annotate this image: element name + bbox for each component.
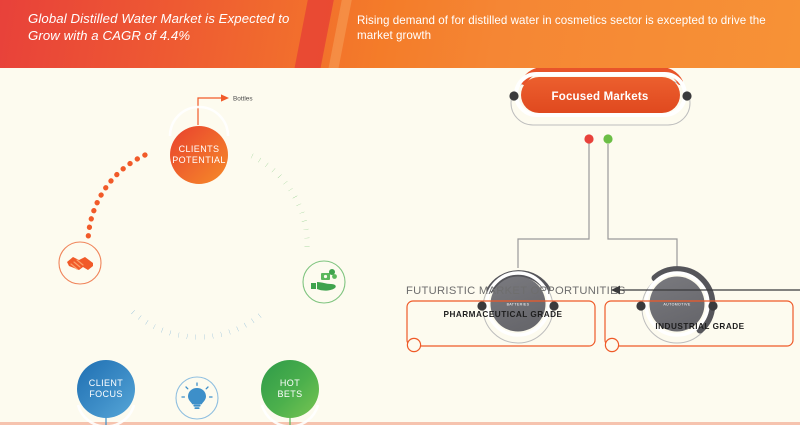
page-title: Global Distilled Water Market is Expecte… [28, 10, 298, 44]
connector-dot-green [603, 134, 612, 143]
handshake-icon [67, 257, 93, 270]
connector-dot-red [584, 134, 593, 143]
connector-arc-orange [88, 155, 145, 243]
focused-markets-title: Focused Markets [552, 91, 649, 103]
node-clients-potential[interactable]: CLIENTS POTENTIAL [170, 107, 228, 184]
node-clients-potential-label-line2: POTENTIAL [172, 155, 226, 165]
callout-bottles: Bottles [198, 94, 253, 125]
node-hot-bets-label-line2: BETS [277, 389, 302, 399]
opportunity-box-pharmaceutical-grade-label: PHARMACEUTICAL GRADE [443, 310, 562, 319]
node-hot-bets-label-line1: HOT [280, 378, 300, 388]
node-client-focus[interactable]: CLIENT FOCUS [77, 360, 135, 425]
connector-arc-green [252, 156, 307, 248]
pill-dot-right [682, 91, 691, 100]
opportunities-title: FUTURISTIC MARKET OPPORTUNITIES [406, 285, 626, 297]
market-circle-automotive-label: AUTOMOTIVE [663, 303, 690, 307]
node-clients-potential-label-line1: CLIENTS [179, 144, 220, 154]
market-dot-left [636, 301, 645, 310]
market-circle-batteries[interactable]: BATTERIES [477, 273, 558, 343]
market-dot-right [708, 301, 717, 310]
infographic-body: Bottles CLIENTS POTENTIAL [0, 68, 800, 425]
pill-dot-left [509, 91, 518, 100]
opportunity-box-marker [407, 338, 420, 351]
infographic-page: Global Distilled Water Market is Expecte… [0, 0, 800, 425]
focused-markets-connectors [518, 134, 677, 268]
node-hot-bets[interactable]: HOT BETS [261, 360, 319, 425]
icon-circle-lightbulb [176, 377, 218, 419]
node-client-focus-label-line1: CLIENT [89, 378, 124, 388]
focused-markets-pill[interactable]: Focused Markets [509, 70, 691, 125]
opportunity-box-industrial-grade-label: INDUSTRIAL GRADE [655, 322, 744, 331]
money-in-hand-icon [311, 269, 337, 291]
connector-arc-blue [133, 312, 264, 337]
market-circle-automotive[interactable]: AUTOMOTIVE [636, 270, 717, 343]
header-subtitle: Rising demand of for distilled water in … [357, 13, 777, 43]
header-banner: Global Distilled Water Market is Expecte… [0, 0, 800, 68]
node-client-focus-label-line2: FOCUS [89, 389, 123, 399]
callout-bottles-label: Bottles [233, 96, 253, 103]
market-circle-batteries-label: BATTERIES [507, 303, 530, 307]
icon-circle-money [303, 261, 345, 303]
opportunities-section: FUTURISTIC MARKET OPPORTUNITIES PHARMACE… [406, 285, 800, 352]
opportunity-box-marker [605, 338, 618, 351]
icon-circle-handshake [59, 242, 101, 284]
lightbulb-icon [182, 383, 212, 409]
